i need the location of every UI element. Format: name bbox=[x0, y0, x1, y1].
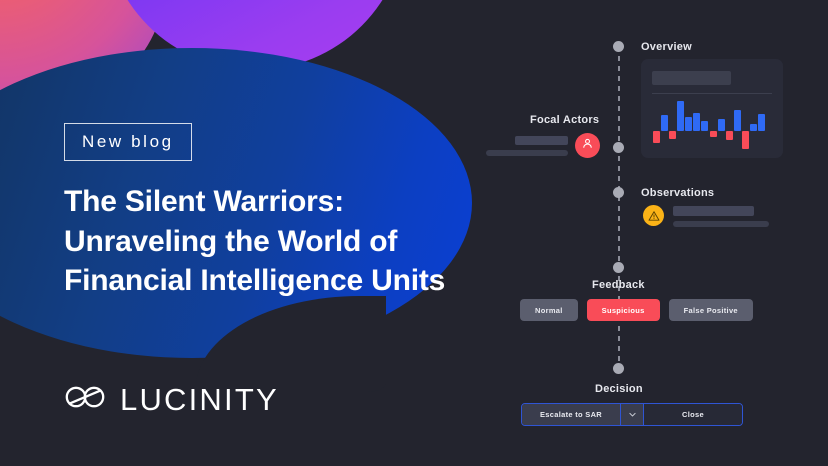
brand-name: LUCINITY bbox=[120, 384, 279, 415]
decision-button-group: Escalate to SAR Close bbox=[521, 403, 743, 426]
feedback-button-group: NormalSuspiciousFalse Positive bbox=[520, 299, 753, 321]
chart-bar bbox=[669, 131, 676, 139]
overview-card-divider bbox=[652, 93, 772, 94]
timeline-dot-observations bbox=[613, 187, 624, 198]
timeline-dot-focal-actors bbox=[613, 142, 624, 153]
timeline-dot-decision bbox=[613, 363, 624, 374]
brand-logo: LUCINITY bbox=[64, 384, 279, 415]
warning-triangle-icon bbox=[643, 205, 664, 226]
section-title-observations: Observations bbox=[641, 187, 714, 199]
chart-bar bbox=[726, 131, 733, 141]
escalate-to-sar-button[interactable]: Escalate to SAR bbox=[522, 404, 620, 425]
focal-actor-name-placeholder bbox=[515, 136, 568, 145]
feedback-button-normal[interactable]: Normal bbox=[520, 299, 578, 321]
chart-bar bbox=[693, 113, 700, 131]
timeline-dot-overview bbox=[613, 41, 624, 52]
chart-bar bbox=[677, 101, 684, 130]
overview-card bbox=[641, 59, 783, 158]
observation-detail-placeholder bbox=[673, 221, 769, 227]
chevron-down-icon[interactable] bbox=[620, 404, 644, 425]
chart-bar bbox=[742, 131, 749, 149]
close-button[interactable]: Close bbox=[644, 404, 742, 425]
avatar bbox=[575, 133, 600, 158]
chart-bar bbox=[734, 110, 741, 131]
new-blog-badge: New blog bbox=[64, 123, 192, 161]
infinity-logo-icon bbox=[64, 385, 108, 414]
user-icon bbox=[581, 137, 594, 155]
chart-bar bbox=[685, 117, 692, 131]
focal-actor-detail-placeholder bbox=[486, 150, 568, 156]
chart-bar bbox=[661, 115, 668, 130]
feedback-button-suspicious[interactable]: Suspicious bbox=[587, 299, 660, 321]
observation-title-placeholder bbox=[673, 206, 754, 216]
page-title: The Silent Warriors: Unraveling the Worl… bbox=[64, 182, 456, 301]
overview-bar-chart bbox=[652, 100, 774, 150]
section-title-focal-actors: Focal Actors bbox=[530, 114, 599, 126]
timeline-dot-feedback bbox=[613, 262, 624, 273]
section-title-overview: Overview bbox=[641, 41, 692, 53]
chart-bar bbox=[750, 124, 757, 131]
timeline-connector bbox=[618, 46, 620, 370]
chart-bar bbox=[701, 121, 708, 131]
promo-banner: New blog The Silent Warriors: Unraveling… bbox=[0, 0, 828, 466]
chart-bar bbox=[710, 131, 717, 138]
overview-card-title-placeholder bbox=[652, 71, 731, 85]
chart-bar bbox=[653, 131, 660, 144]
chart-bar bbox=[718, 119, 725, 130]
section-title-decision: Decision bbox=[595, 383, 643, 395]
feedback-button-false-positive[interactable]: False Positive bbox=[669, 299, 753, 321]
section-title-feedback: Feedback bbox=[592, 279, 645, 291]
chart-bar bbox=[758, 114, 765, 131]
